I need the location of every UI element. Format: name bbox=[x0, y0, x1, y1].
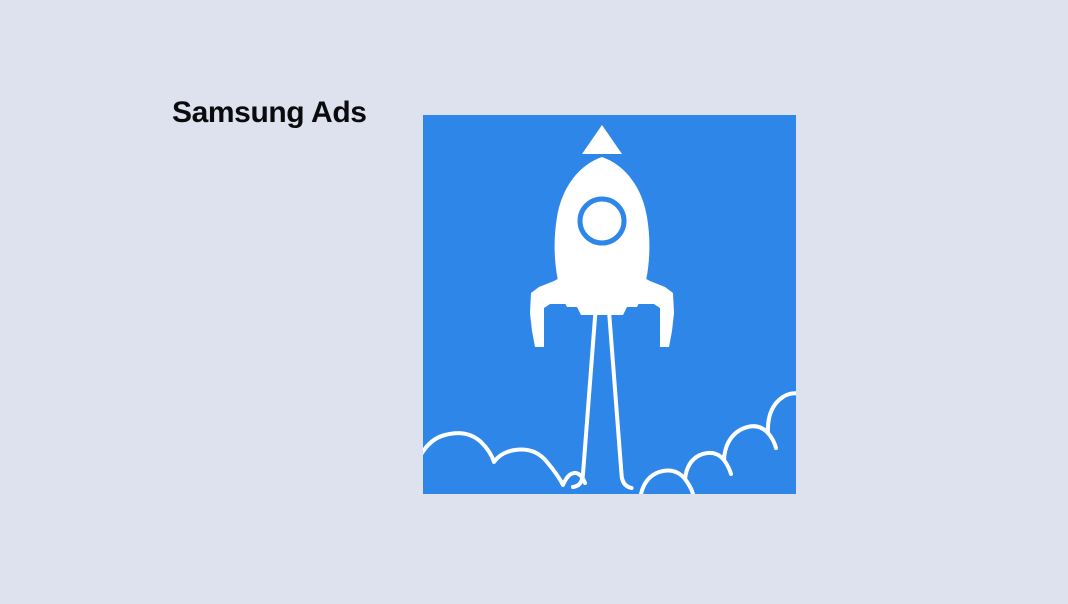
page-title: Samsung Ads bbox=[172, 95, 367, 131]
rocket-launch-icon bbox=[423, 115, 796, 494]
cloud-left-path bbox=[423, 433, 585, 485]
rocket-body-path bbox=[555, 157, 650, 315]
cloud-right-path bbox=[641, 393, 796, 494]
page-canvas: Samsung Ads bbox=[0, 0, 1068, 604]
rocket-artwork-panel bbox=[423, 115, 796, 494]
nose-cone-path bbox=[582, 125, 622, 154]
exhaust-trail-path bbox=[573, 311, 632, 488]
